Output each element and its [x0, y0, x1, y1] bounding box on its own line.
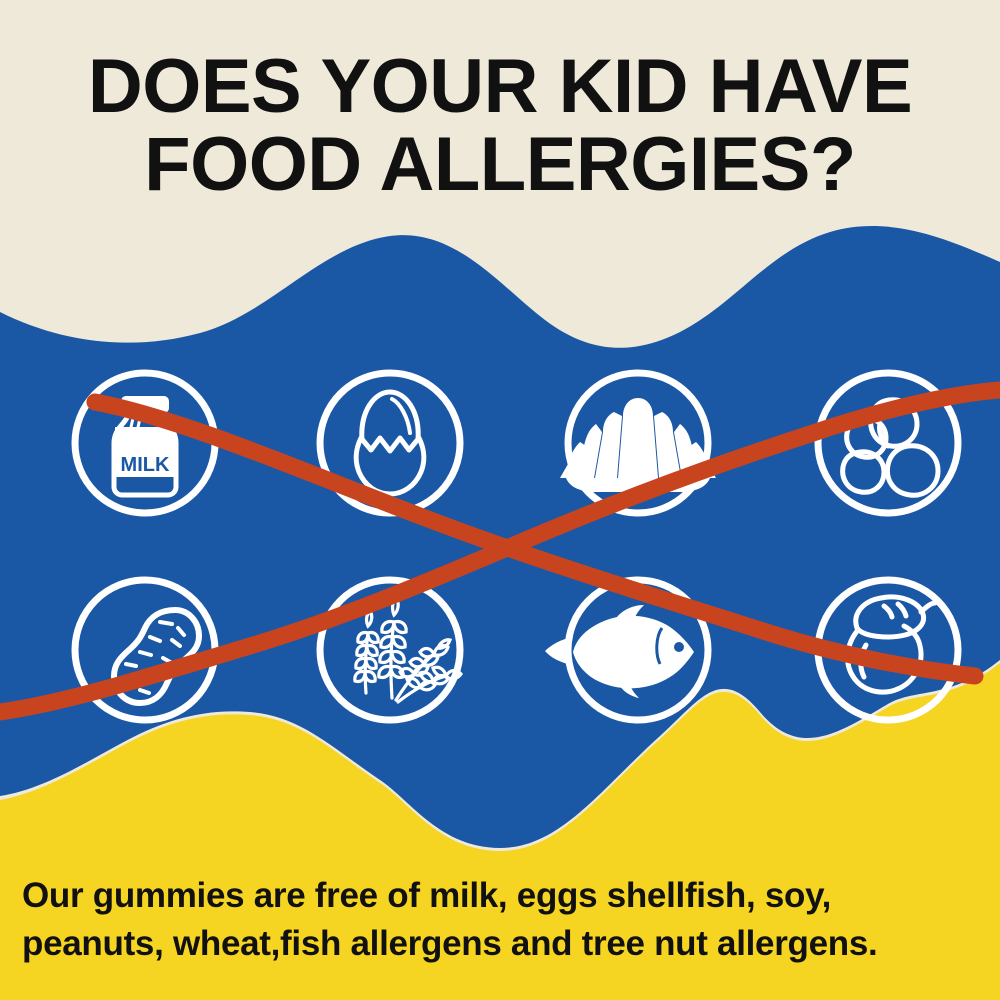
headline: DOES YOUR KID HAVE FOOD ALLERGIES? [0, 48, 1000, 204]
footer-line-2: peanuts, wheat,fish allergens and tree n… [22, 920, 982, 968]
cross-stroke-ascending [0, 390, 1000, 712]
footer-text: Our gummies are free of milk, eggs shell… [22, 872, 982, 968]
poster-canvas: DOES YOUR KID HAVE FOOD ALLERGIES? MILK [0, 0, 1000, 1000]
headline-line-1: DOES YOUR KID HAVE [0, 48, 1000, 126]
footer-line-1: Our gummies are free of milk, eggs shell… [22, 872, 982, 920]
headline-line-2: FOOD ALLERGIES? [0, 126, 1000, 204]
